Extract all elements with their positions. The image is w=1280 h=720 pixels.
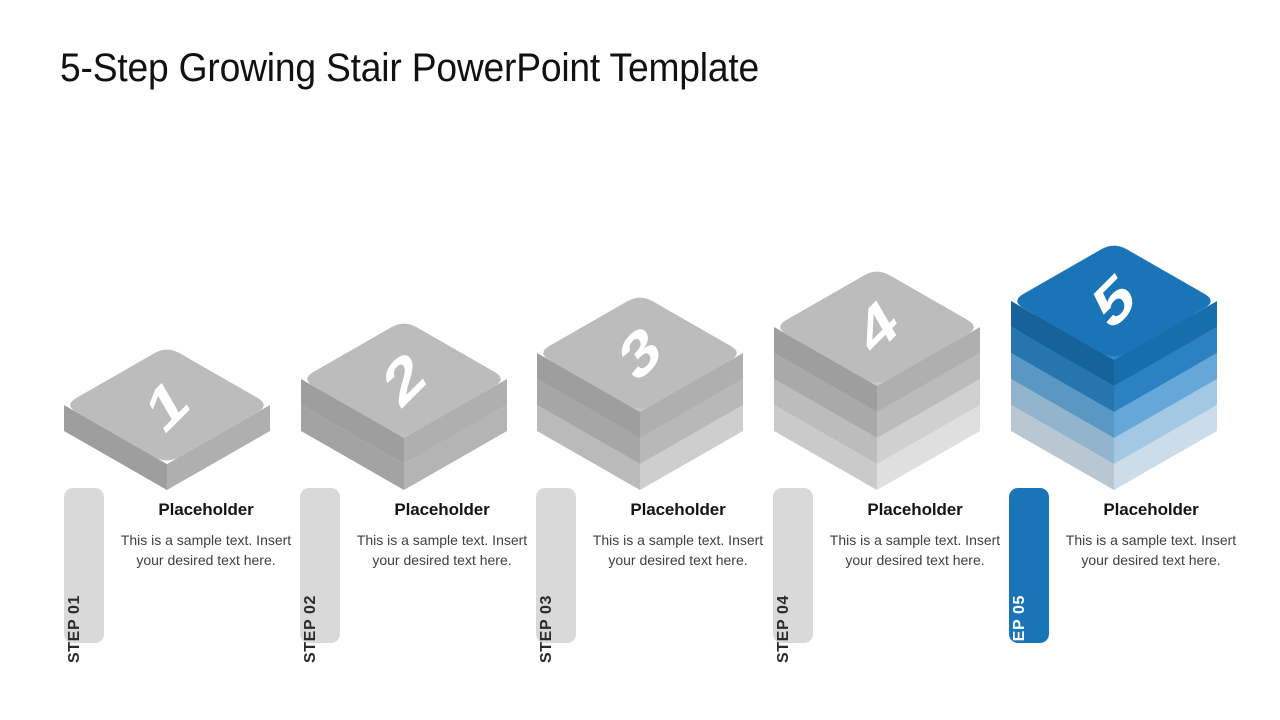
step-chip-3[interactable]: STEP 03	[536, 488, 576, 643]
step-chip-4[interactable]: STEP 04	[773, 488, 813, 643]
step-chip-label: STEP 04	[775, 595, 793, 663]
stair-block-2[interactable]: 2	[274, 175, 534, 475]
step-body-text: This is a sample text. Insert your desir…	[829, 530, 1001, 570]
step-chip-label: STEP 05	[1011, 595, 1029, 663]
step-heading: Placeholder	[829, 500, 1001, 520]
step-chip-2[interactable]: STEP 02	[300, 488, 340, 643]
step-caption-4: STEP 04PlaceholderThis is a sample text.…	[773, 488, 1001, 643]
step-heading: Placeholder	[120, 500, 292, 520]
step-chip-label: STEP 03	[538, 595, 556, 663]
step-body-text: This is a sample text. Insert your desir…	[120, 530, 292, 570]
step-caption-2: STEP 02PlaceholderThis is a sample text.…	[300, 488, 528, 643]
step-chip-label: STEP 01	[66, 595, 84, 663]
step-chip-5[interactable]: STEP 05	[1009, 488, 1049, 643]
stair-block-3[interactable]: 3	[510, 175, 770, 475]
step-chip-1[interactable]: STEP 01	[64, 488, 104, 643]
slide-canvas: 5-Step Growing Stair PowerPoint Template…	[0, 0, 1280, 720]
step-caption-3: STEP 03PlaceholderThis is a sample text.…	[536, 488, 764, 643]
step-text-block: PlaceholderThis is a sample text. Insert…	[829, 488, 1001, 570]
step-heading: Placeholder	[592, 500, 764, 520]
step-body-text: This is a sample text. Insert your desir…	[592, 530, 764, 570]
step-text-block: PlaceholderThis is a sample text. Insert…	[592, 488, 764, 570]
step-body-text: This is a sample text. Insert your desir…	[356, 530, 528, 570]
step-body-text: This is a sample text. Insert your desir…	[1065, 530, 1237, 570]
step-text-block: PlaceholderThis is a sample text. Insert…	[1065, 488, 1237, 570]
step-heading: Placeholder	[1065, 500, 1237, 520]
step-caption-5: STEP 05PlaceholderThis is a sample text.…	[1009, 488, 1237, 643]
caption-row: STEP 01PlaceholderThis is a sample text.…	[0, 488, 1280, 658]
page-title: 5-Step Growing Stair PowerPoint Template	[60, 42, 759, 94]
step-text-block: PlaceholderThis is a sample text. Insert…	[120, 488, 292, 570]
stair-graphic: 12345	[0, 175, 1280, 475]
step-chip-label: STEP 02	[302, 595, 320, 663]
stair-block-1[interactable]: 1	[37, 175, 297, 475]
stair-block-5[interactable]: 5	[984, 175, 1244, 475]
step-heading: Placeholder	[356, 500, 528, 520]
step-text-block: PlaceholderThis is a sample text. Insert…	[356, 488, 528, 570]
step-caption-1: STEP 01PlaceholderThis is a sample text.…	[64, 488, 292, 643]
stair-block-4[interactable]: 4	[747, 175, 1007, 475]
